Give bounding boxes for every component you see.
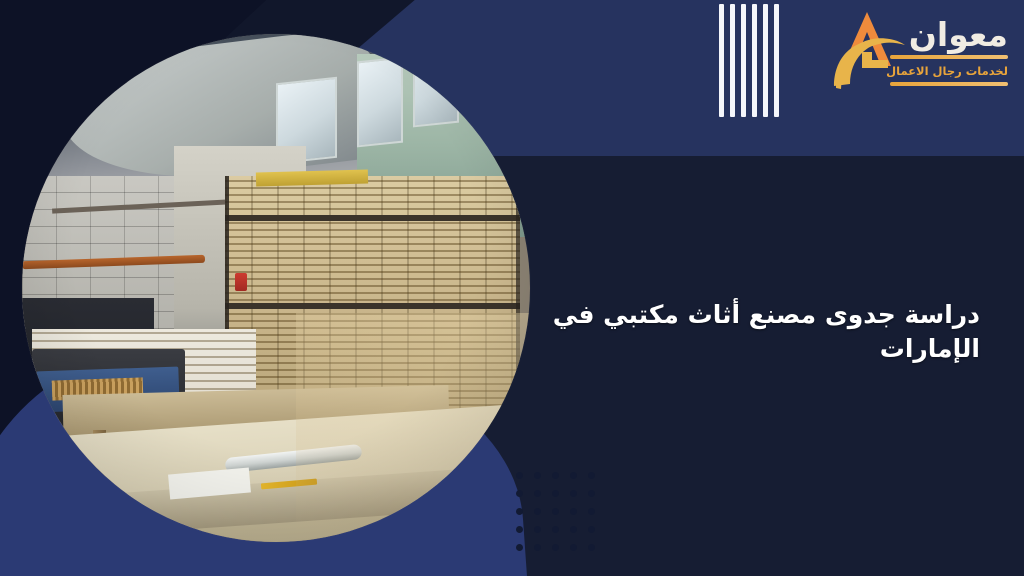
grid-dot — [552, 526, 559, 533]
grid-dot — [570, 508, 577, 515]
grid-dot — [534, 490, 541, 497]
grid-dot — [570, 490, 577, 497]
grid-dot — [516, 490, 523, 497]
photo-vignette — [22, 34, 530, 542]
factory-photo-illustration — [22, 34, 530, 542]
logo-divider-top — [890, 55, 1008, 59]
header-stripe — [730, 4, 735, 117]
header-stripe — [741, 4, 746, 117]
grid-dot — [534, 508, 541, 515]
brand-logo[interactable]: معوان لخدمات رجال الاعمال — [820, 6, 1010, 110]
header-stripe-decoration — [719, 4, 779, 117]
grid-dot — [552, 544, 559, 551]
factory-photo — [22, 34, 530, 542]
logo-divider-bottom — [890, 82, 1008, 86]
grid-dot — [570, 472, 577, 479]
grid-dot — [552, 472, 559, 479]
header-stripe — [752, 4, 757, 117]
banner-canvas: معوان لخدمات رجال الاعمال دراسة جدوى مصن… — [0, 0, 1024, 576]
grid-dot — [534, 544, 541, 551]
grid-dot — [516, 472, 523, 479]
grid-dot — [588, 544, 595, 551]
logo-tagline: لخدمات رجال الاعمال — [890, 64, 1008, 78]
grid-dot — [516, 526, 523, 533]
logo-name: معوان — [890, 18, 1008, 51]
grid-dot — [534, 526, 541, 533]
grid-dot — [588, 508, 595, 515]
grid-dot — [552, 490, 559, 497]
grid-dot — [534, 472, 541, 479]
grid-dot — [570, 526, 577, 533]
grid-dot — [570, 544, 577, 551]
header-stripe — [719, 4, 724, 117]
grid-dot — [516, 544, 523, 551]
grid-dot — [588, 490, 595, 497]
logo-wordmark: معوان لخدمات رجال الاعمال — [890, 18, 1008, 86]
grid-dot — [552, 508, 559, 515]
banner-title: دراسة جدوى مصنع أثاث مكتبي في الإمارات — [460, 298, 980, 366]
grid-dot — [588, 526, 595, 533]
grid-dot — [588, 472, 595, 479]
dot-grid-decoration — [505, 472, 595, 562]
grid-dot — [516, 508, 523, 515]
header-stripe — [774, 4, 779, 117]
header-stripe — [763, 4, 768, 117]
